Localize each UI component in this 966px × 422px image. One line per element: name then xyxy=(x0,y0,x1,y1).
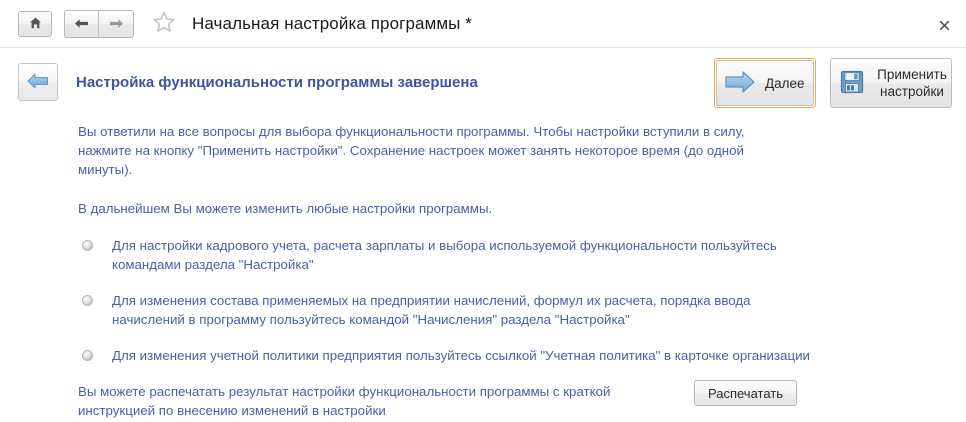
command-bar: Настройка функциональности программы зав… xyxy=(0,48,966,116)
content-area: Вы ответили на все вопросы для выбора фу… xyxy=(0,122,966,420)
star-icon xyxy=(152,11,176,37)
next-button-label: Далее xyxy=(765,76,805,91)
back-arrow-icon xyxy=(74,17,89,32)
list-item: Для изменения состава применяемых на пре… xyxy=(78,291,812,329)
navigate-forward-button[interactable] xyxy=(99,11,133,37)
print-description: Вы можете распечатать результат настройк… xyxy=(78,382,686,420)
list-item-label: Для изменения учетной политики предприят… xyxy=(112,348,810,363)
intro-paragraph: Вы ответили на все вопросы для выбора фу… xyxy=(78,122,768,179)
home-icon xyxy=(29,17,42,32)
home-button[interactable] xyxy=(18,11,52,37)
bullet-dot-icon xyxy=(82,240,93,251)
print-row: Вы можете распечатать результат настройк… xyxy=(78,382,946,420)
apply-settings-button[interactable]: Применить настройки xyxy=(830,58,952,108)
next-button[interactable]: Далее xyxy=(716,60,814,106)
forward-arrow-icon xyxy=(109,17,124,32)
hints-list: Для настройки кадрового учета, расчета з… xyxy=(78,236,946,365)
apply-label-line-2: настройки xyxy=(880,84,944,99)
secondary-paragraph: В дальнейшем Вы можете изменить любые на… xyxy=(78,199,768,218)
section-heading: Настройка функциональности программы зав… xyxy=(76,74,478,91)
list-item-label: Для настройки кадрового учета, расчета з… xyxy=(112,238,777,272)
list-item: Для изменения учетной политики предприят… xyxy=(78,346,812,365)
list-item-label: Для изменения состава применяемых на пре… xyxy=(112,293,751,327)
bullet-dot-icon xyxy=(82,350,93,361)
bullet-dot-icon xyxy=(82,295,93,306)
window-titlebar: Начальная настройка программы * xyxy=(0,0,966,48)
navigate-back-button[interactable] xyxy=(65,11,99,37)
print-button[interactable]: Распечатать xyxy=(694,380,797,406)
navigation-buttons xyxy=(18,10,134,38)
apply-label-line-1: Применить xyxy=(877,67,947,82)
wizard-back-button[interactable] xyxy=(18,63,58,101)
close-icon xyxy=(939,19,950,34)
back-forward-group xyxy=(64,10,134,38)
next-button-focus-ring: Далее xyxy=(714,58,816,108)
add-to-favorites-button[interactable] xyxy=(152,11,176,37)
left-arrow-icon xyxy=(26,71,50,94)
command-bar-actions: Далее Применить настройки xyxy=(714,58,952,108)
page-title: Начальная настройка программы * xyxy=(192,14,472,34)
close-window-button[interactable] xyxy=(936,18,952,34)
right-arrow-icon xyxy=(723,68,757,99)
list-item: Для настройки кадрового учета, расчета з… xyxy=(78,236,812,274)
save-floppy-icon xyxy=(839,69,865,98)
apply-settings-button-label: Применить настройки xyxy=(873,66,951,100)
